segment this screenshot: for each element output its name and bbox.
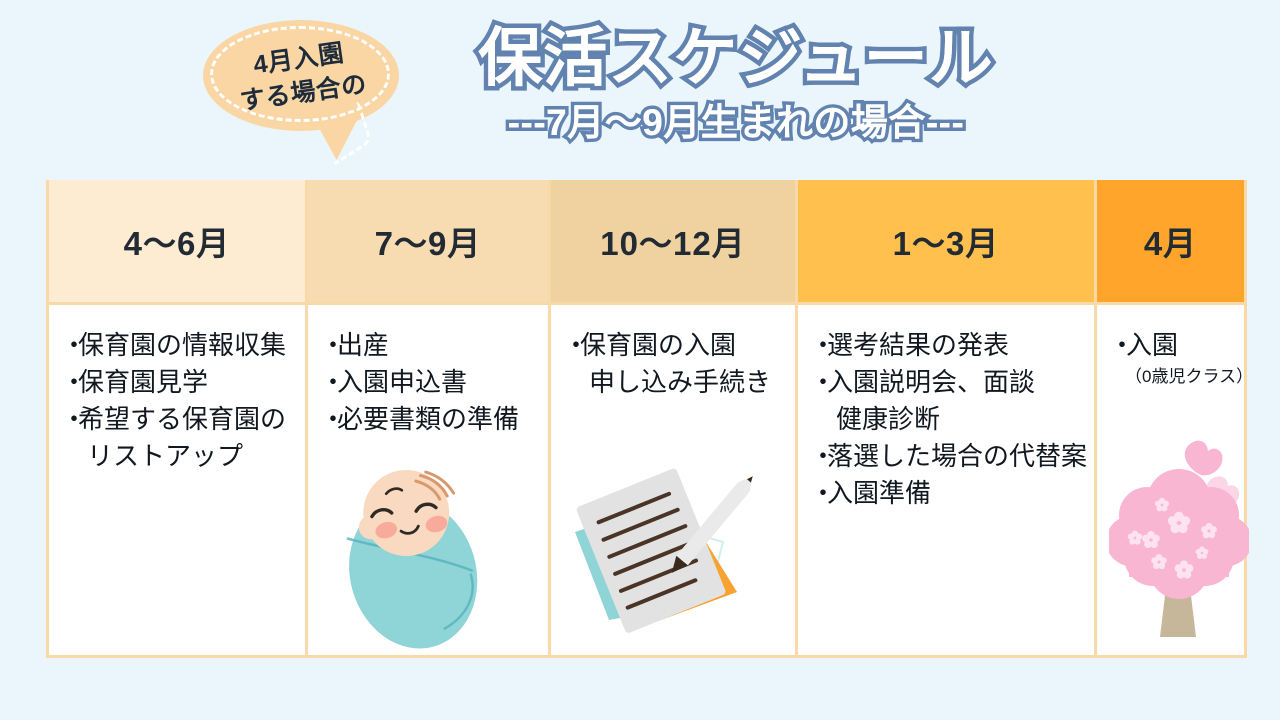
schedule-table: 4～6月 ・ 保育園の情報収集 ・ 保育園見学 ・ 希望する保育園の リストアッ… — [46, 180, 1247, 658]
list-item: ・ 入園説明会、面談 — [810, 364, 1088, 401]
list-item-label: 選考結果の発表 — [827, 327, 1088, 364]
list-item-label: 保育園見学 — [78, 364, 299, 401]
column-header-7-9: 7～9月 — [308, 180, 548, 305]
list-item: ・ 落選した場合の代替案 — [810, 438, 1088, 475]
list-item-label: 入園準備 — [827, 475, 1088, 512]
list-item-label: 出産 — [337, 327, 542, 364]
bullet-icon: ・ — [810, 327, 827, 364]
column-body-7-9: ・ 出産 ・ 入園申込書 ・ 必要書類の準備 — [308, 305, 548, 655]
list-item-label: 入園 — [1126, 327, 1238, 364]
title-block: 保活スケジュール 保活スケジュール ---7月～9月生まれの場合--- ---7… — [356, 18, 1116, 146]
schedule-column-7-9: 7～9月 ・ 出産 ・ 入園申込書 ・ 必要書類の準備 — [308, 180, 551, 655]
list-item: ・ 保育園見学 — [61, 364, 299, 401]
speech-bubble: 4月入園 する場合の — [203, 20, 399, 131]
list-item: ・ 入園申込書 — [320, 364, 542, 401]
column-body-4-6: ・ 保育園の情報収集 ・ 保育園見学 ・ 希望する保育園の リストアップ — [49, 305, 305, 655]
list-item-continuation: 健康診断 — [810, 401, 1088, 438]
list-item: ・ 保育園の情報収集 — [61, 327, 299, 364]
column-header-1-3: 1～3月 — [798, 180, 1094, 305]
list-item-label: 希望する保育園の — [78, 401, 299, 438]
list-item: ・ 選考結果の発表 — [810, 327, 1088, 364]
list-item-label: 保育園の入園 — [580, 327, 789, 364]
bullet-icon: ・ — [810, 475, 827, 512]
list-item: ・ 必要書類の準備 — [320, 401, 542, 438]
list-item-label: 落選した場合の代替案 — [827, 438, 1088, 475]
bullet-icon: ・ — [320, 401, 337, 438]
column-header-10-12: 10～12月 — [551, 180, 795, 305]
column-body-10-12: ・ 保育園の入園 申し込み手続き — [551, 305, 795, 655]
header-area: 4月入園 する場合の 保活スケジュール 保活スケジュール ---7月～9月生まれ… — [0, 0, 1280, 178]
list-item: ・ 保育園の入園 — [563, 327, 789, 364]
cherry-blossom-tree-icon — [1109, 429, 1249, 649]
bullet-icon: ・ — [61, 327, 78, 364]
page-subtitle: ---7月～9月生まれの場合--- — [356, 100, 1116, 146]
bullet-icon: ・ — [810, 438, 827, 475]
schedule-column-4: 4月 ・ 入園 （0歳児クラス） — [1097, 180, 1244, 655]
documents-and-pencil-icon — [561, 468, 771, 633]
list-item: ・ 希望する保育園の — [61, 401, 299, 438]
bullet-icon: ・ — [61, 364, 78, 401]
list-item: ・ 入園 — [1109, 327, 1238, 364]
enrollment-class-note: （0歳児クラス） — [1109, 364, 1238, 390]
bullet-icon: ・ — [61, 401, 78, 438]
page-title: 保活スケジュール — [356, 18, 1116, 98]
column-body-4: ・ 入園 （0歳児クラス） — [1097, 305, 1244, 655]
bullet-icon: ・ — [320, 327, 337, 364]
column-header-4-6: 4～6月 — [49, 180, 305, 305]
bullet-icon: ・ — [320, 364, 337, 401]
bullet-icon: ・ — [810, 364, 827, 401]
list-item: ・ 入園準備 — [810, 475, 1088, 512]
schedule-column-4-6: 4～6月 ・ 保育園の情報収集 ・ 保育園見学 ・ 希望する保育園の リストアッ… — [49, 180, 308, 655]
schedule-column-10-12: 10～12月 ・ 保育園の入園 申し込み手続き — [551, 180, 798, 655]
list-item-label: 必要書類の準備 — [337, 401, 542, 438]
list-item: ・ 出産 — [320, 327, 542, 364]
column-body-1-3: ・ 選考結果の発表 ・ 入園説明会、面談 健康診断 ・ 落選した場合の代替案 ・… — [798, 305, 1094, 655]
swaddled-baby-icon — [326, 469, 502, 649]
list-item-label: 入園申込書 — [337, 364, 542, 401]
list-item-continuation: 申し込み手続き — [563, 364, 789, 401]
column-header-4: 4月 — [1097, 180, 1244, 305]
list-item-continuation: リストアップ — [61, 438, 299, 475]
bullet-icon: ・ — [1109, 327, 1126, 364]
bullet-icon: ・ — [563, 327, 580, 364]
list-item-label: 保育園の情報収集 — [78, 327, 299, 364]
schedule-column-1-3: 1～3月 ・ 選考結果の発表 ・ 入園説明会、面談 健康診断 ・ 落選した場合の… — [798, 180, 1097, 655]
list-item-label: 入園説明会、面談 — [827, 364, 1088, 401]
